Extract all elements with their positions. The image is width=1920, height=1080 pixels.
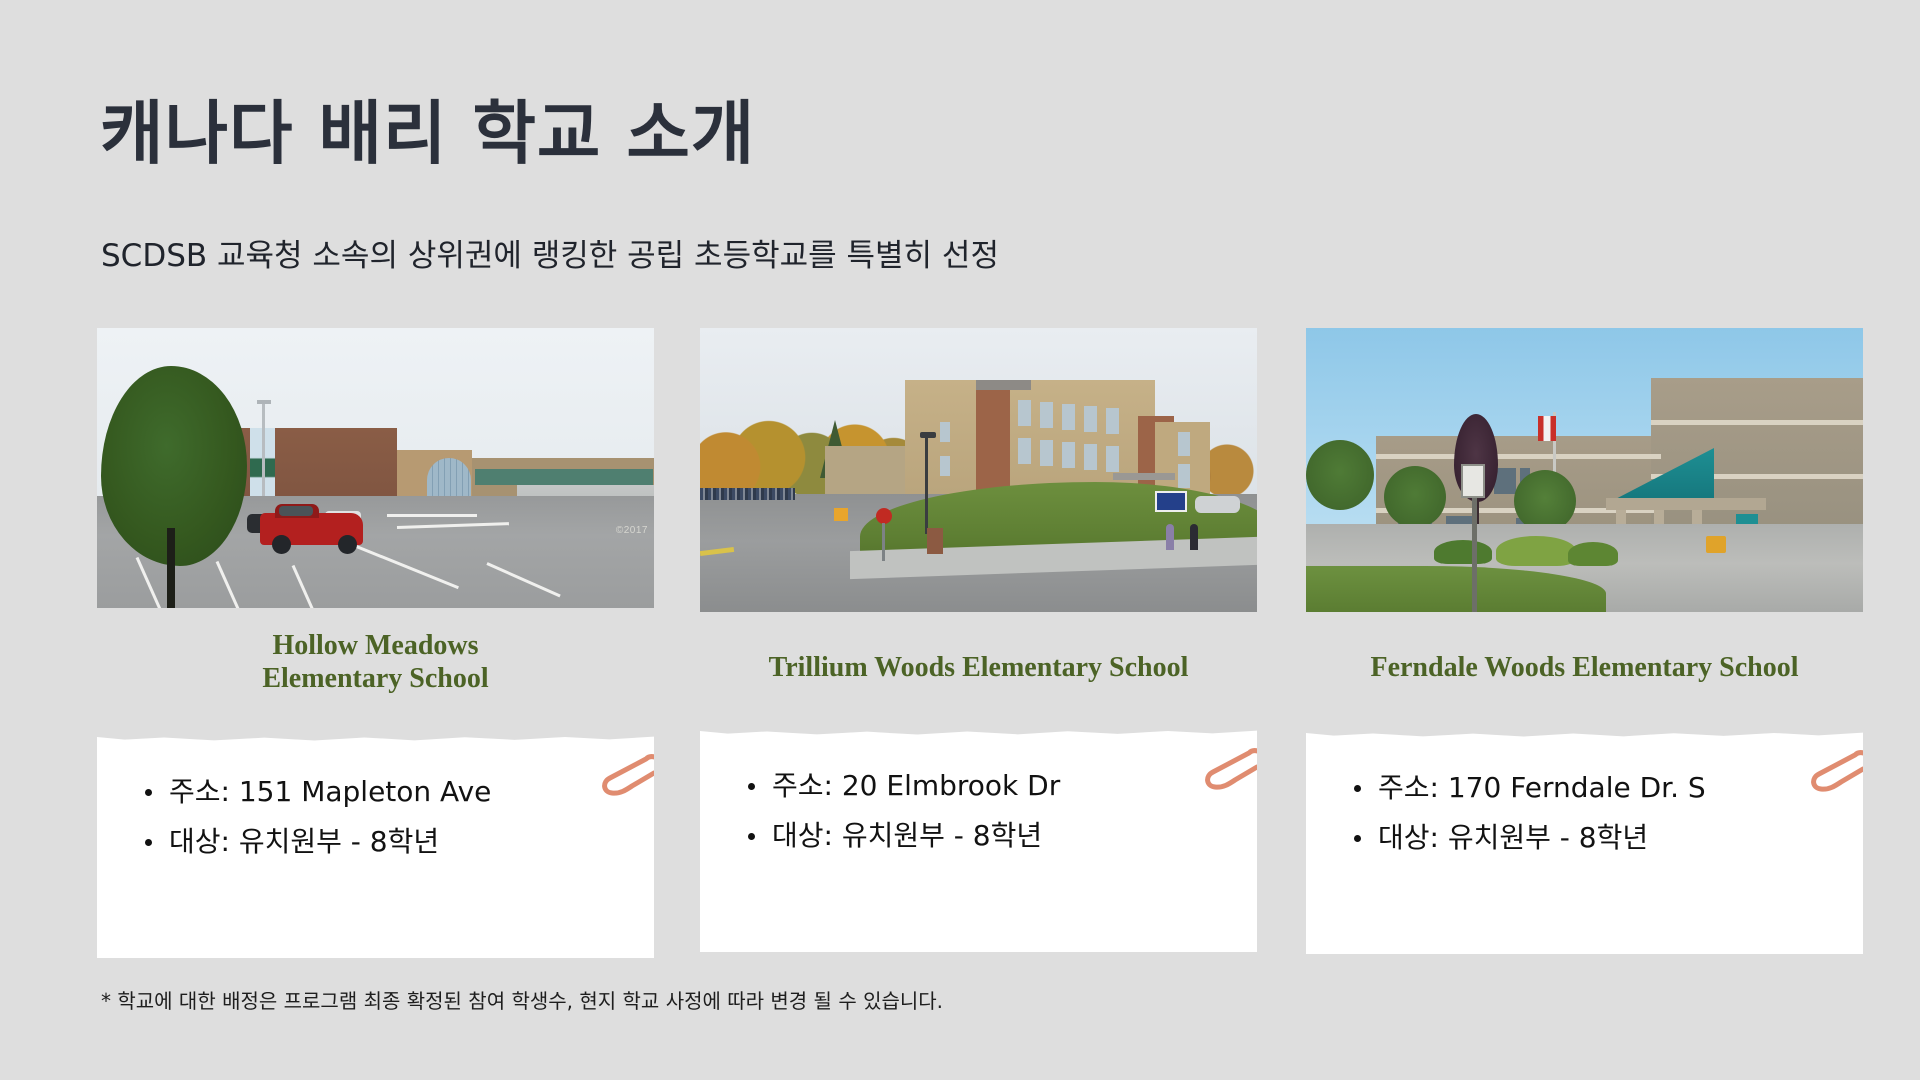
slide-root: 캐나다 배리 학교 소개 SCDSB 교육청 소속의 상위권에 랭킹한 공립 초… (0, 0, 1920, 1080)
yellow-bin (1706, 536, 1726, 553)
truck-wheel (272, 535, 291, 554)
school-photo-2 (700, 328, 1257, 612)
school-column-1: ©2017 주소: 151 Mapleton Ave 대상: 유치원부 - 8학… (97, 328, 654, 608)
parking-line (387, 514, 477, 517)
school-name-line-1: Trillium Woods Elementary School (769, 652, 1189, 683)
green-tree (1514, 470, 1576, 532)
light-pole-head (257, 400, 271, 404)
school-details-list-3: 주소: 170 Ferndale Dr. S 대상: 유치원부 - 8학년 (1306, 726, 1863, 874)
school-photo-1: ©2017 (97, 328, 654, 608)
window (940, 456, 950, 476)
school-details-list-1: 주소: 151 Mapleton Ave 대상: 유치원부 - 8학년 (97, 730, 654, 878)
parking-sign (1461, 464, 1485, 498)
window (1040, 440, 1053, 466)
entrance-canopy (1113, 473, 1175, 480)
window (1084, 406, 1097, 432)
wall-band (1651, 420, 1863, 425)
shrub (1568, 542, 1618, 566)
window (1062, 404, 1075, 430)
list-item: 대상: 유치원부 - 8학년 (143, 828, 654, 856)
green-tree (1384, 466, 1446, 528)
school-name-line-2: Elementary School (262, 663, 488, 694)
window (1040, 402, 1053, 428)
pedestrian (1190, 524, 1198, 550)
green-tree (1306, 440, 1374, 510)
footnote-text: * 학교에 대한 배정은 프로그램 최종 확정된 참여 학생수, 현지 학교 사… (101, 985, 943, 1014)
parked-suv (1195, 496, 1240, 513)
school-note-card-3: 주소: 170 Ferndale Dr. S 대상: 유치원부 - 8학년 (1306, 726, 1863, 954)
list-item: 주소: 20 Elmbrook Dr (746, 772, 1257, 800)
list-item: 대상: 유치원부 - 8학년 (1352, 824, 1863, 852)
paperclip-icon (1805, 750, 1863, 794)
wall-band (1376, 454, 1661, 459)
list-item: 대상: 유치원부 - 8학년 (746, 822, 1257, 850)
school-note-card-2: 주소: 20 Elmbrook Dr 대상: 유치원부 - 8학년 (700, 724, 1257, 952)
pedestrian (1166, 524, 1174, 550)
light-pole-head (920, 432, 936, 438)
shrub (1496, 536, 1576, 566)
school-name-2: Trillium Woods Elementary School (700, 652, 1257, 685)
page-subtitle: SCDSB 교육청 소속의 상위권에 랭킹한 공립 초등학교를 특별히 선정 (101, 230, 999, 275)
sign-post (882, 523, 885, 561)
tree-trunk (167, 528, 175, 608)
window (940, 422, 950, 442)
window (1018, 400, 1031, 426)
school-column-3: Ferndale Woods Elementary School 주소: 170… (1306, 328, 1863, 612)
window (1106, 446, 1119, 472)
school-name-line-1: Hollow Meadows (272, 630, 478, 661)
school-details-list-2: 주소: 20 Elmbrook Dr 대상: 유치원부 - 8학년 (700, 724, 1257, 872)
shrub (1434, 540, 1492, 564)
paperclip-icon (1199, 748, 1257, 792)
window (1062, 442, 1075, 468)
entrance-canopy (1606, 498, 1766, 510)
light-pole (262, 401, 265, 506)
no-entry-sign (876, 508, 892, 524)
window (1106, 408, 1119, 434)
school-column-2: Trillium Woods Elementary School 주소: 20 … (700, 328, 1257, 612)
list-item: 주소: 170 Ferndale Dr. S (1352, 774, 1863, 802)
brick-pillar (927, 528, 943, 554)
school-photo-3 (1306, 328, 1863, 612)
light-pole (925, 434, 928, 534)
window (1178, 464, 1190, 488)
photo-watermark: ©2017 (616, 525, 648, 536)
window (1178, 432, 1190, 456)
paperclip-icon (596, 754, 654, 798)
window (1084, 444, 1097, 470)
school-note-card-1: 주소: 151 Mapleton Ave 대상: 유치원부 - 8학년 (97, 730, 654, 958)
school-sign (1155, 491, 1187, 512)
truck-window (279, 506, 313, 516)
student-crowd (700, 488, 795, 500)
list-item: 주소: 151 Mapleton Ave (143, 778, 654, 806)
canada-flag (1538, 416, 1556, 441)
page-title: 캐나다 배리 학교 소개 (100, 97, 755, 172)
school-name-3: Ferndale Woods Elementary School (1306, 652, 1863, 685)
yellow-bin (834, 508, 848, 521)
school-name-1: Hollow Meadows Elementary School (97, 630, 654, 696)
green-wall-band (475, 469, 653, 485)
truck-wheel (338, 535, 357, 554)
school-name-line-1: Ferndale Woods Elementary School (1370, 652, 1798, 683)
roof-cap (976, 380, 1031, 390)
window (1018, 438, 1031, 464)
